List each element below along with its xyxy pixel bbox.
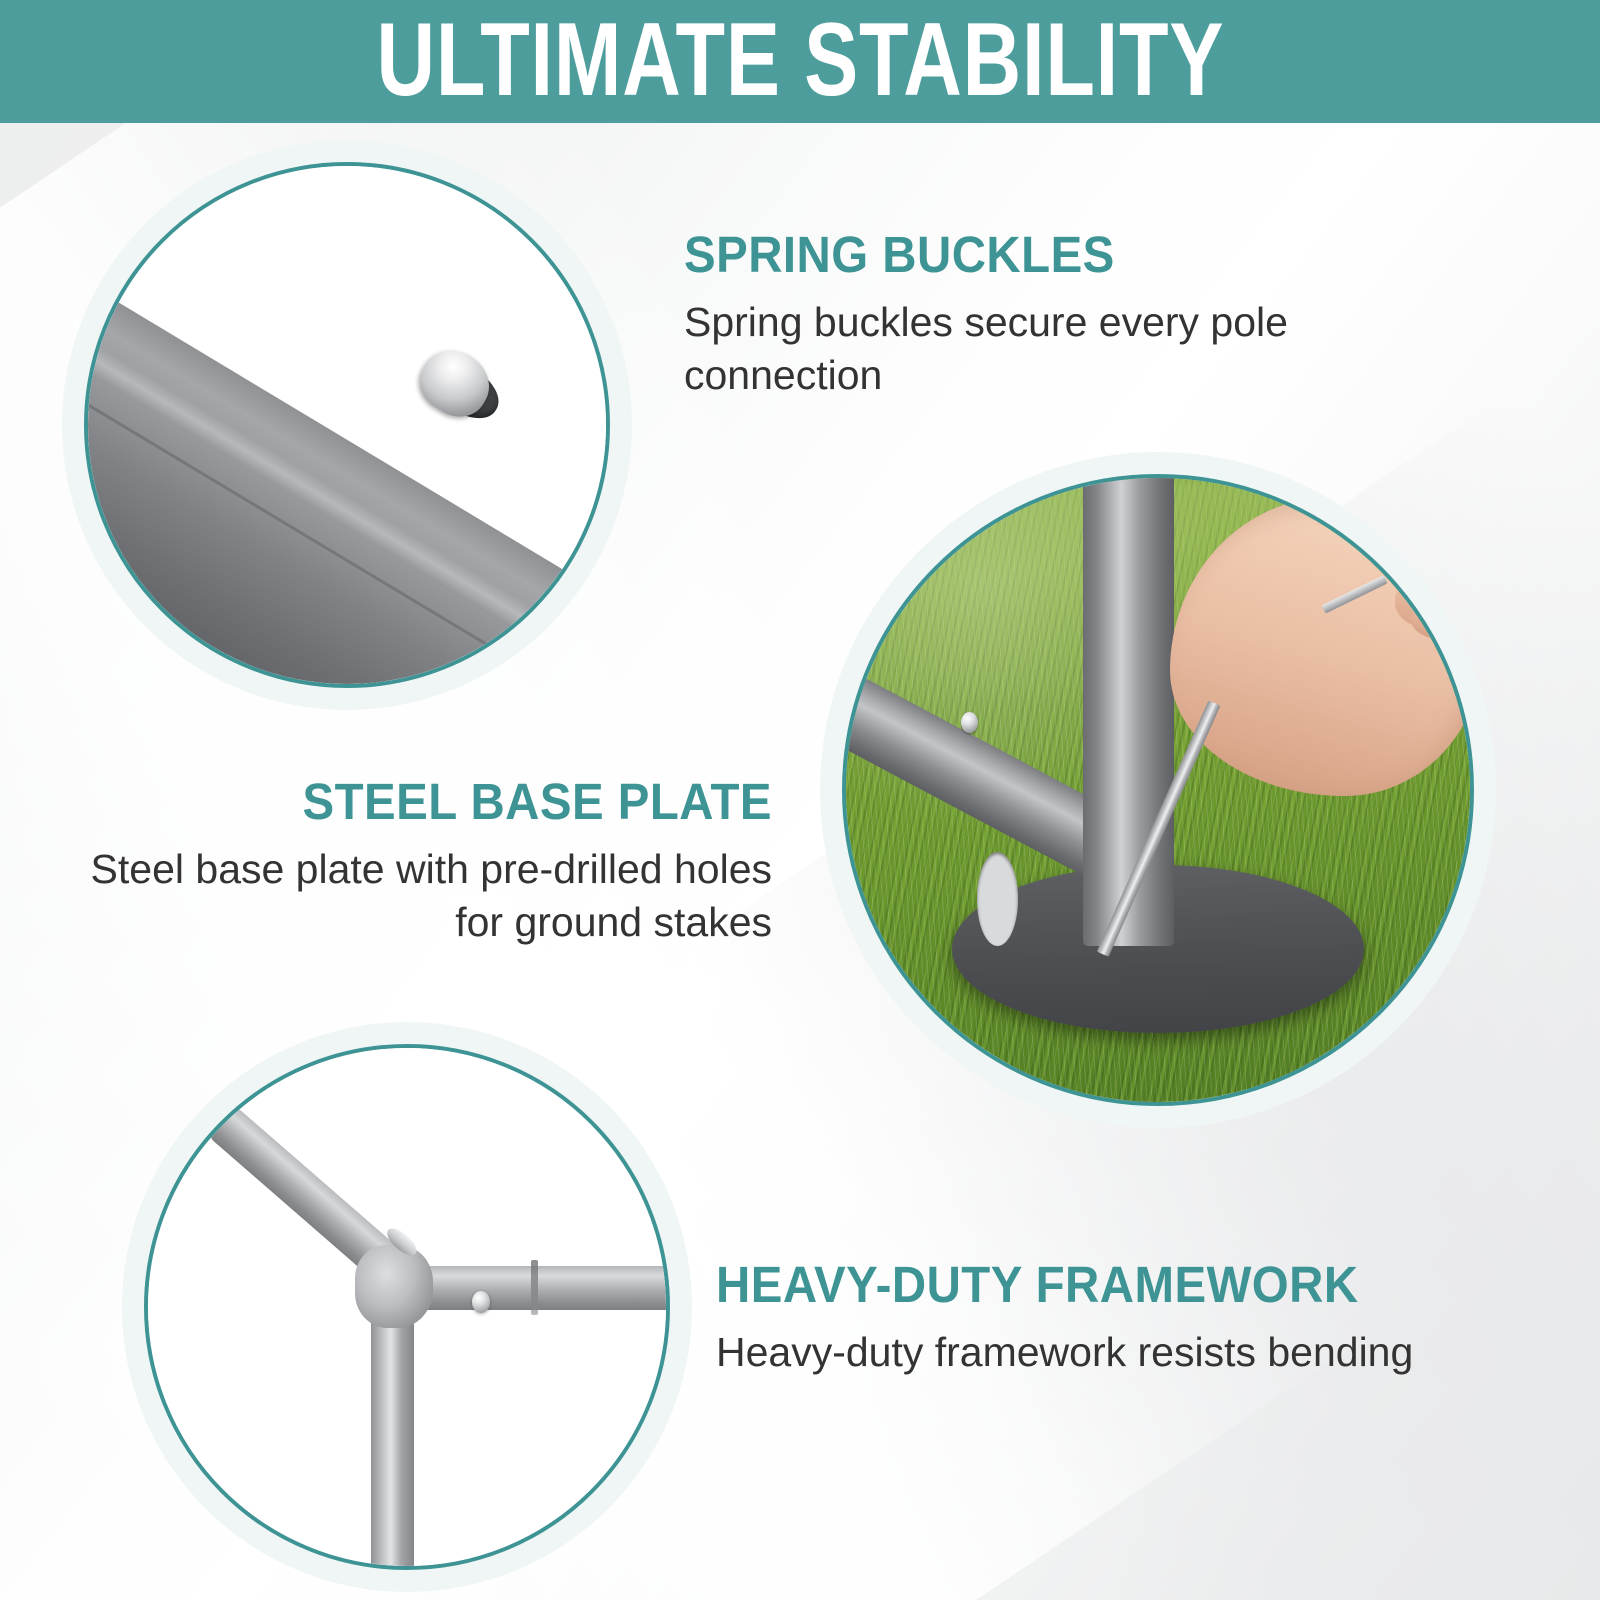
feature-heading: STEEL BASE PLATE: [110, 775, 772, 829]
feature-text-spring-buckles: SPRING BUCKLES Spring buckles secure eve…: [684, 228, 1374, 403]
vertical-leg-pole-graphic: [1083, 474, 1173, 946]
circle-frame: [842, 474, 1474, 1106]
feature-image-spring-buckles: [62, 140, 632, 710]
circle-frame: [144, 1044, 670, 1570]
feature-image-heavy-duty-framework: [122, 1022, 692, 1592]
infographic-poster: ULTIMATE STABILITY: [0, 0, 1600, 1600]
feature-text-steel-base-plate: STEEL BASE PLATE Steel base plate with p…: [60, 775, 772, 950]
pole-coupling-seam: [531, 1260, 537, 1314]
feature-description: Heavy-duty framework resists bending: [716, 1326, 1506, 1379]
circle-frame: [84, 162, 610, 688]
feature-heading: HEAVY-DUTY FRAMEWORK: [716, 1258, 1451, 1312]
feature-description: Steel base plate with pre-drilled holes …: [60, 843, 772, 950]
welded-joint-graphic: [355, 1245, 433, 1328]
banner-title: ULTIMATE STABILITY: [376, 8, 1224, 112]
vertical-leg-pole-graphic: [371, 1297, 415, 1570]
pre-drilled-hole-icon: [977, 852, 1018, 946]
feature-description: Spring buckles secure every pole connect…: [684, 296, 1374, 403]
header-banner: ULTIMATE STABILITY: [0, 0, 1600, 123]
thumb-graphic: [1411, 599, 1474, 641]
feature-text-heavy-duty-framework: HEAVY-DUTY FRAMEWORK Heavy-duty framewor…: [716, 1258, 1506, 1379]
feature-image-steel-base-plate: [820, 452, 1496, 1128]
feature-heading: SPRING BUCKLES: [684, 228, 1326, 282]
